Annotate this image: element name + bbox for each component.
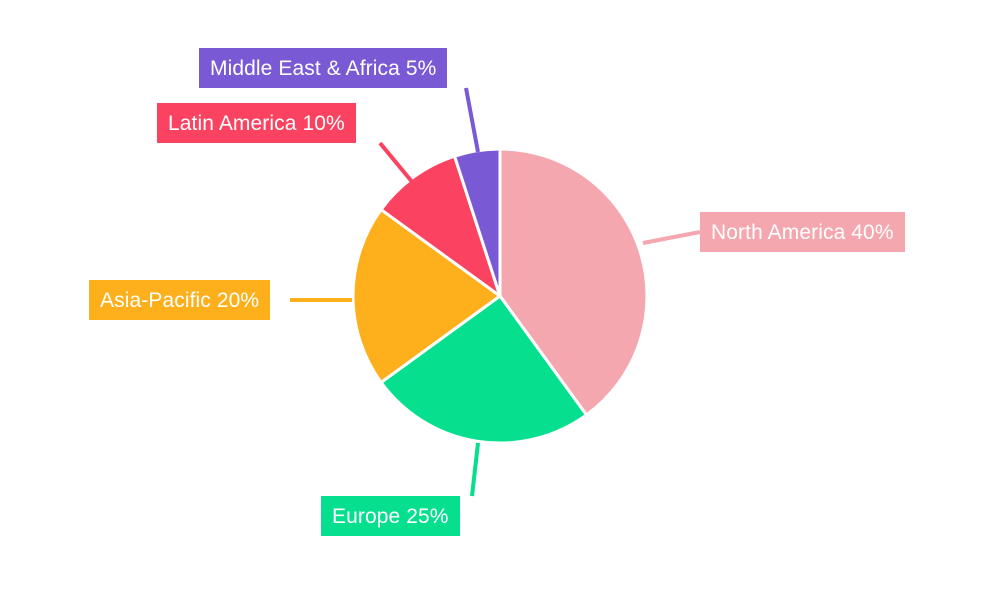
pie-label-north-america[interactable]: North America 40% — [700, 212, 905, 252]
leader-line-europe — [472, 443, 478, 496]
pie-slices — [353, 149, 647, 443]
leader-line-north-america — [643, 232, 700, 243]
leader-line-middle-east-africa — [466, 88, 478, 152]
pie-label-middle-east-africa[interactable]: Middle East & Africa 5% — [199, 48, 447, 88]
pie-label-europe[interactable]: Europe 25% — [321, 496, 460, 536]
leader-line-latin-america — [380, 143, 413, 183]
pie-chart-canvas: North America 40% Europe 25% Asia-Pacifi… — [0, 0, 1000, 600]
pie-label-asia-pacific[interactable]: Asia-Pacific 20% — [89, 280, 270, 320]
pie-label-latin-america[interactable]: Latin America 10% — [157, 103, 356, 143]
